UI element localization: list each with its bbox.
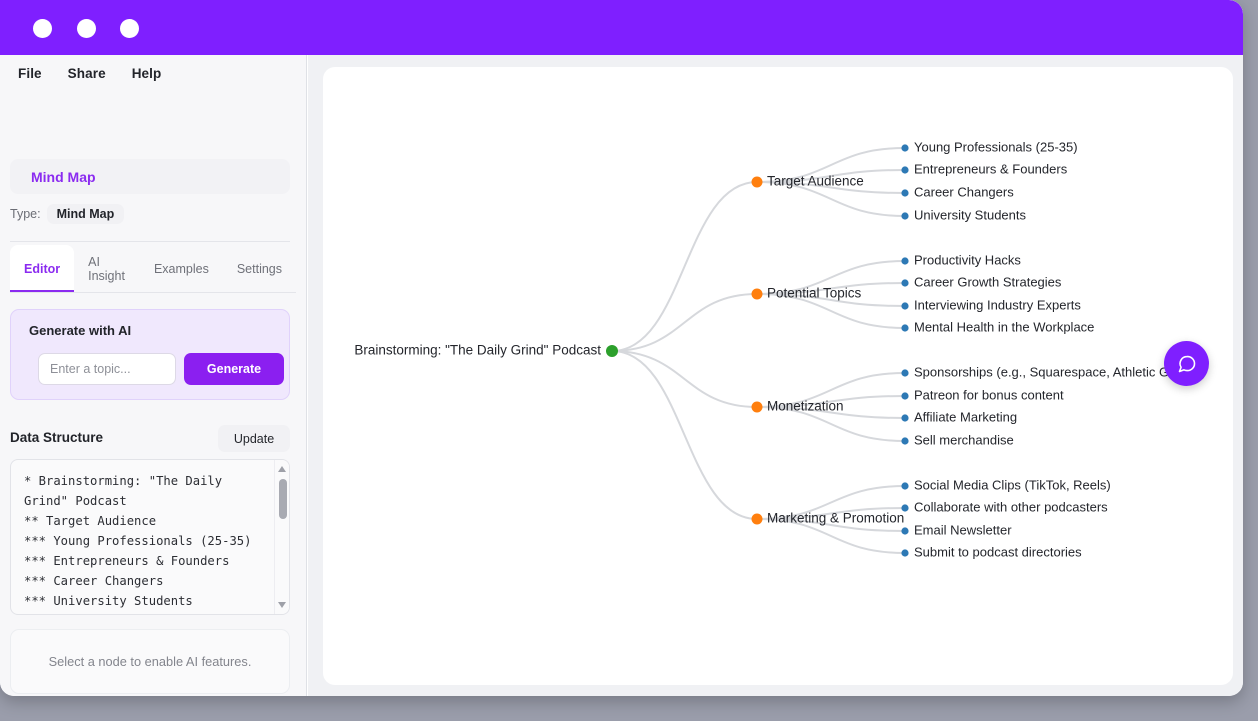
canvas-area: Brainstorming: "The Daily Grind" Podcast…	[308, 55, 1243, 696]
mindmap-leaf-label[interactable]: Entrepreneurs & Founders	[914, 161, 1068, 176]
mindmap-leaf-node[interactable]	[901, 437, 908, 444]
mindmap-branch-label[interactable]: Potential Topics	[767, 286, 862, 301]
chat-fab-button[interactable]	[1164, 341, 1209, 386]
mindmap-link	[612, 294, 757, 351]
mindmap-leaf-node[interactable]	[901, 392, 908, 399]
mindmap-leaf-label[interactable]: Sell merchandise	[914, 432, 1014, 447]
mindmap-leaf-label[interactable]: Email Newsletter	[914, 522, 1012, 537]
mindmap-leaf-label[interactable]: Patreon for bonus content	[914, 387, 1064, 402]
data-structure-text[interactable]: * Brainstorming: "The Daily Grind" Podca…	[11, 460, 273, 614]
type-value-badge: Mind Map	[47, 204, 125, 224]
sidebar-tabs: Editor AI Insight Examples Settings	[10, 245, 296, 292]
mindmap-leaf-label[interactable]: Collaborate with other podcasters	[914, 499, 1108, 514]
mindmap-branch-node[interactable]	[752, 177, 763, 188]
ai-hint-text: Select a node to enable AI features.	[49, 654, 252, 669]
mindmap-leaf-label[interactable]: Submit to podcast directories	[914, 544, 1082, 559]
data-structure-title: Data Structure	[10, 430, 103, 445]
mindmap-leaf-label[interactable]: Mental Health in the Workplace	[914, 319, 1094, 334]
tabs-underline	[10, 292, 296, 293]
mindmap-leaf-label[interactable]: Sponsorships (e.g., Squarespace, Athleti…	[914, 364, 1206, 379]
update-button[interactable]: Update	[218, 425, 290, 452]
document-title-card[interactable]: Mind Map	[10, 159, 290, 194]
generate-with-ai-title: Generate with AI	[29, 323, 131, 338]
mindmap-leaf-label[interactable]: Productivity Hacks	[914, 252, 1021, 267]
tab-ai-insight[interactable]: AI Insight	[74, 245, 140, 292]
menu-item-help[interactable]: Help	[132, 66, 162, 81]
mindmap-leaf-node[interactable]	[901, 324, 908, 331]
mindmap-leaf-node[interactable]	[901, 369, 908, 376]
scrollbar-down-arrow-icon[interactable]	[278, 602, 286, 608]
topic-input[interactable]	[38, 353, 176, 385]
mindmap-leaf-node[interactable]	[901, 279, 908, 286]
mindmap-leaf-node[interactable]	[901, 302, 908, 309]
sidebar-panel: File Share Help Mind Map Type: Mind Map …	[0, 55, 307, 696]
menu-item-share[interactable]: Share	[68, 66, 106, 81]
chat-bubble-icon	[1177, 354, 1197, 374]
data-structure-scrollbar[interactable]	[274, 460, 289, 614]
mindmap-leaf-node[interactable]	[901, 527, 908, 534]
mindmap-leaf-node[interactable]	[901, 166, 908, 173]
data-structure-editor[interactable]: * Brainstorming: "The Daily Grind" Podca…	[10, 459, 290, 615]
mindmap-leaf-label[interactable]: Social Media Clips (TikTok, Reels)	[914, 477, 1111, 492]
ai-hint-box: Select a node to enable AI features.	[10, 629, 290, 694]
mindmap-leaf-node[interactable]	[901, 212, 908, 219]
tab-settings[interactable]: Settings	[223, 245, 296, 292]
mindmap-branch-node[interactable]	[752, 514, 763, 525]
type-label: Type:	[10, 207, 41, 221]
mindmap-canvas[interactable]: Brainstorming: "The Daily Grind" Podcast…	[323, 67, 1233, 685]
document-title: Mind Map	[31, 169, 96, 185]
mindmap-leaf-node[interactable]	[901, 414, 908, 421]
mindmap-branch-node[interactable]	[752, 402, 763, 413]
mindmap-leaf-label[interactable]: Affiliate Marketing	[914, 409, 1017, 424]
mindmap-leaf-node[interactable]	[901, 549, 908, 556]
mindmap-branch-label[interactable]: Monetization	[767, 399, 844, 414]
mindmap-link	[612, 182, 757, 351]
menu-item-file[interactable]: File	[18, 66, 42, 81]
mindmap-leaf-label[interactable]: Interviewing Industry Experts	[914, 297, 1081, 312]
app-window: File Share Help Mind Map Type: Mind Map …	[0, 0, 1243, 696]
titlebar-dot-minimize[interactable]	[77, 19, 96, 38]
menu-bar: File Share Help	[0, 55, 306, 91]
scrollbar-thumb[interactable]	[279, 479, 287, 519]
tab-editor[interactable]: Editor	[10, 245, 74, 292]
mindmap-leaf-node[interactable]	[901, 144, 908, 151]
titlebar-dot-maximize[interactable]	[120, 19, 139, 38]
window-titlebar	[0, 0, 1243, 55]
scrollbar-up-arrow-icon[interactable]	[278, 466, 286, 472]
mindmap-root-node[interactable]	[606, 345, 618, 357]
mindmap-branch-node[interactable]	[752, 289, 763, 300]
mindmap-link	[612, 351, 757, 407]
mindmap-leaf-label[interactable]: Career Growth Strategies	[914, 274, 1062, 289]
mindmap-svg: Brainstorming: "The Daily Grind" Podcast…	[323, 67, 1233, 685]
mindmap-leaf-label[interactable]: Career Changers	[914, 184, 1014, 199]
mindmap-root-label[interactable]: Brainstorming: "The Daily Grind" Podcast	[354, 343, 601, 358]
mindmap-leaf-node[interactable]	[901, 504, 908, 511]
desktop-background: File Share Help Mind Map Type: Mind Map …	[0, 0, 1258, 721]
titlebar-dot-close[interactable]	[33, 19, 52, 38]
mindmap-leaf-label[interactable]: University Students	[914, 207, 1026, 222]
mindmap-link	[612, 351, 757, 519]
mindmap-leaf-node[interactable]	[901, 257, 908, 264]
mindmap-branch-label[interactable]: Target Audience	[767, 174, 864, 189]
mindmap-leaf-label[interactable]: Young Professionals (25-35)	[914, 139, 1078, 154]
mindmap-leaf-node[interactable]	[901, 482, 908, 489]
generate-button[interactable]: Generate	[184, 353, 284, 385]
mindmap-branch-label[interactable]: Marketing & Promotion	[767, 511, 904, 526]
document-type-row: Type: Mind Map	[10, 204, 124, 224]
tab-examples[interactable]: Examples	[140, 245, 223, 292]
mindmap-leaf-node[interactable]	[901, 189, 908, 196]
sidebar-divider	[10, 241, 290, 242]
generate-with-ai-panel: Generate with AI Generate	[10, 309, 290, 400]
